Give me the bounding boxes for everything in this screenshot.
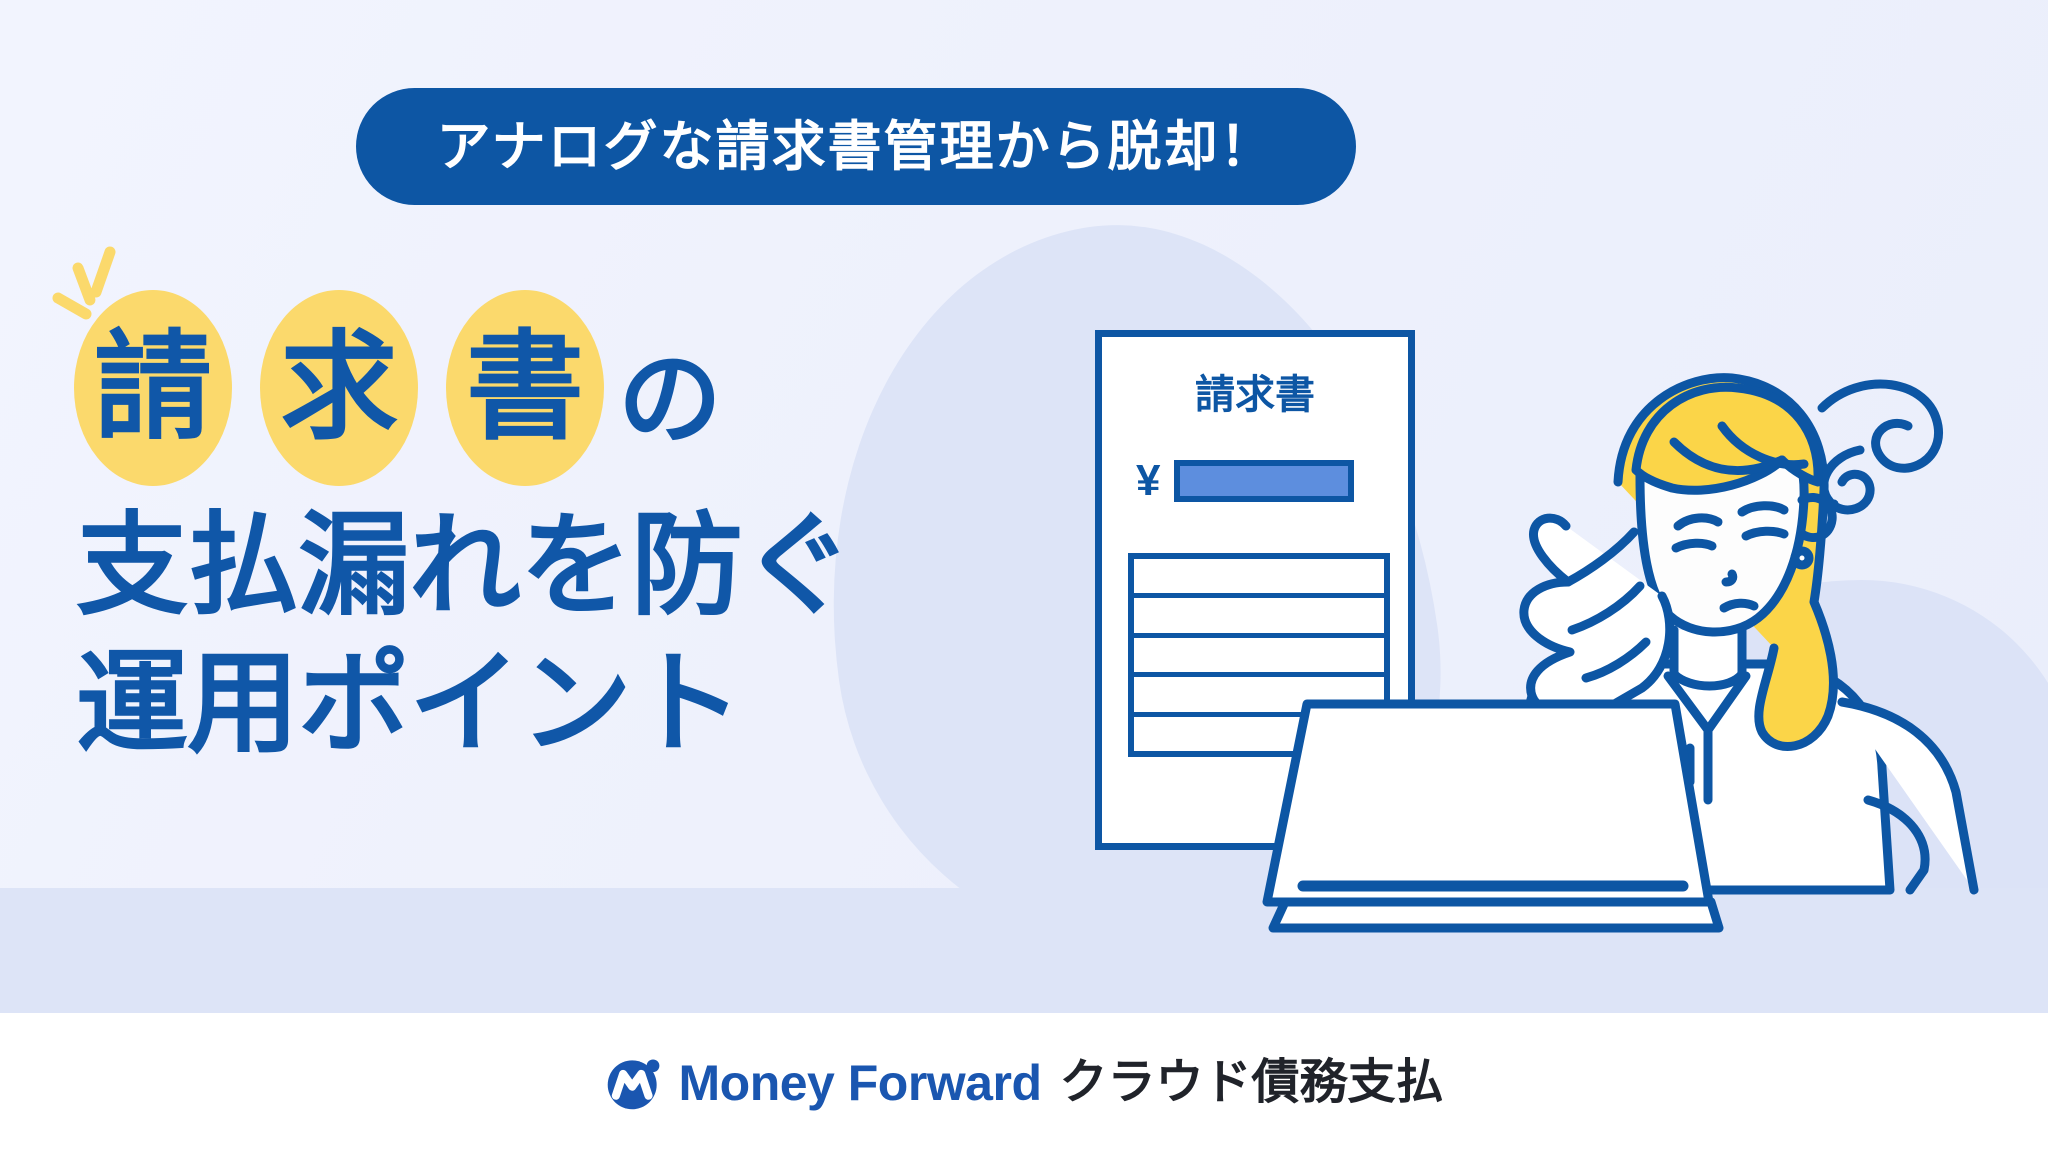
invoice-title: 請求書 — [1102, 375, 1408, 415]
yen-symbol-icon: ¥ — [1136, 459, 1160, 503]
invoice-amount-bar — [1174, 460, 1354, 502]
money-forward-logo-icon — [605, 1054, 663, 1112]
headline-line-1: 請 求 書 の — [70, 290, 1020, 490]
table-row — [1134, 598, 1384, 637]
highlight-char-label: 書 — [446, 290, 604, 486]
headline-line-2: 支払漏れを防ぐ — [76, 500, 853, 632]
invoice-amount-row: ¥ — [1136, 459, 1354, 503]
highlight-char-3: 書 — [446, 290, 604, 486]
laptop-illustration — [1245, 690, 1725, 950]
eyebrow-badge: アナログな請求書管理から脱却！ — [356, 88, 1356, 205]
highlight-char-2: 求 — [260, 290, 418, 486]
highlight-char-label: 請 — [74, 290, 232, 486]
headline-line-3: 運用ポイント — [76, 638, 742, 770]
headline-block: 請 求 書 の 支払漏れを防ぐ 運用ポイント — [70, 290, 1020, 490]
footer-logo-bar: Money Forward クラウド債務支払 — [0, 1013, 2048, 1152]
hero-banner: アナログな請求書管理から脱却！ 請 求 — [0, 0, 2048, 1152]
table-row — [1134, 559, 1384, 598]
product-name: クラウド債務支払 — [1059, 1059, 1443, 1107]
highlight-char-1: 請 — [74, 290, 232, 486]
eyebrow-badge-label: アナログな請求書管理から脱却！ — [437, 120, 1276, 174]
brand-logo: Money Forward クラウド債務支払 — [605, 1054, 1444, 1112]
brand-name: Money Forward — [679, 1058, 1042, 1108]
headline-particle: の — [618, 348, 722, 452]
highlight-char-label: 求 — [260, 290, 418, 486]
table-row — [1134, 638, 1384, 677]
hero-panel: アナログな請求書管理から脱却！ 請 求 — [0, 0, 2048, 1013]
